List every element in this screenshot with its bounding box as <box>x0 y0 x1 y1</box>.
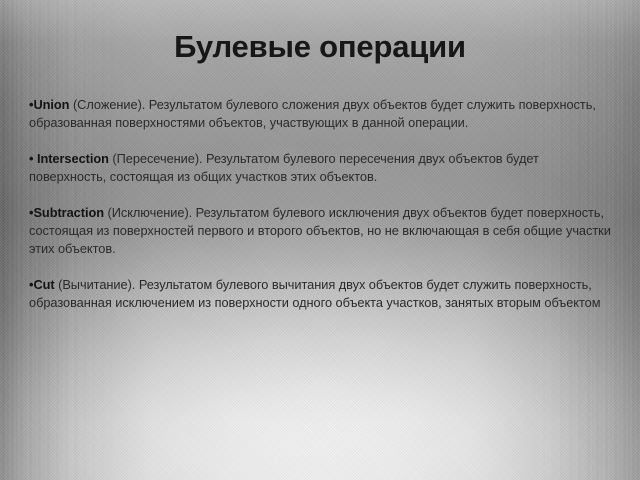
term-description: (Исключение). Результатом булевого исклю… <box>29 205 611 256</box>
term-label: Union <box>33 97 69 112</box>
term-label: Cut <box>33 277 54 292</box>
bullet-list: •Union (Сложение). Результатом булевого … <box>29 96 615 312</box>
term-description: (Сложение). Результатом булевого сложени… <box>29 97 596 130</box>
slide-content: Булевые операции •Union (Сложение). Резу… <box>0 0 640 480</box>
list-item: •Union (Сложение). Результатом булевого … <box>29 96 615 132</box>
list-item: •Cut (Вычитание). Результатом булевого в… <box>29 276 615 312</box>
list-item: • Intersection (Пересечение). Результато… <box>29 150 615 186</box>
term-label: Intersection <box>37 151 109 166</box>
term-label: Subtraction <box>33 205 104 220</box>
page-title: Булевые операции <box>0 28 640 66</box>
presentation-slide: Булевые операции •Union (Сложение). Резу… <box>0 0 640 480</box>
list-item: •Subtraction (Исключение). Результатом б… <box>29 204 615 258</box>
term-description: (Вычитание). Результатом булевого вычита… <box>29 277 601 310</box>
